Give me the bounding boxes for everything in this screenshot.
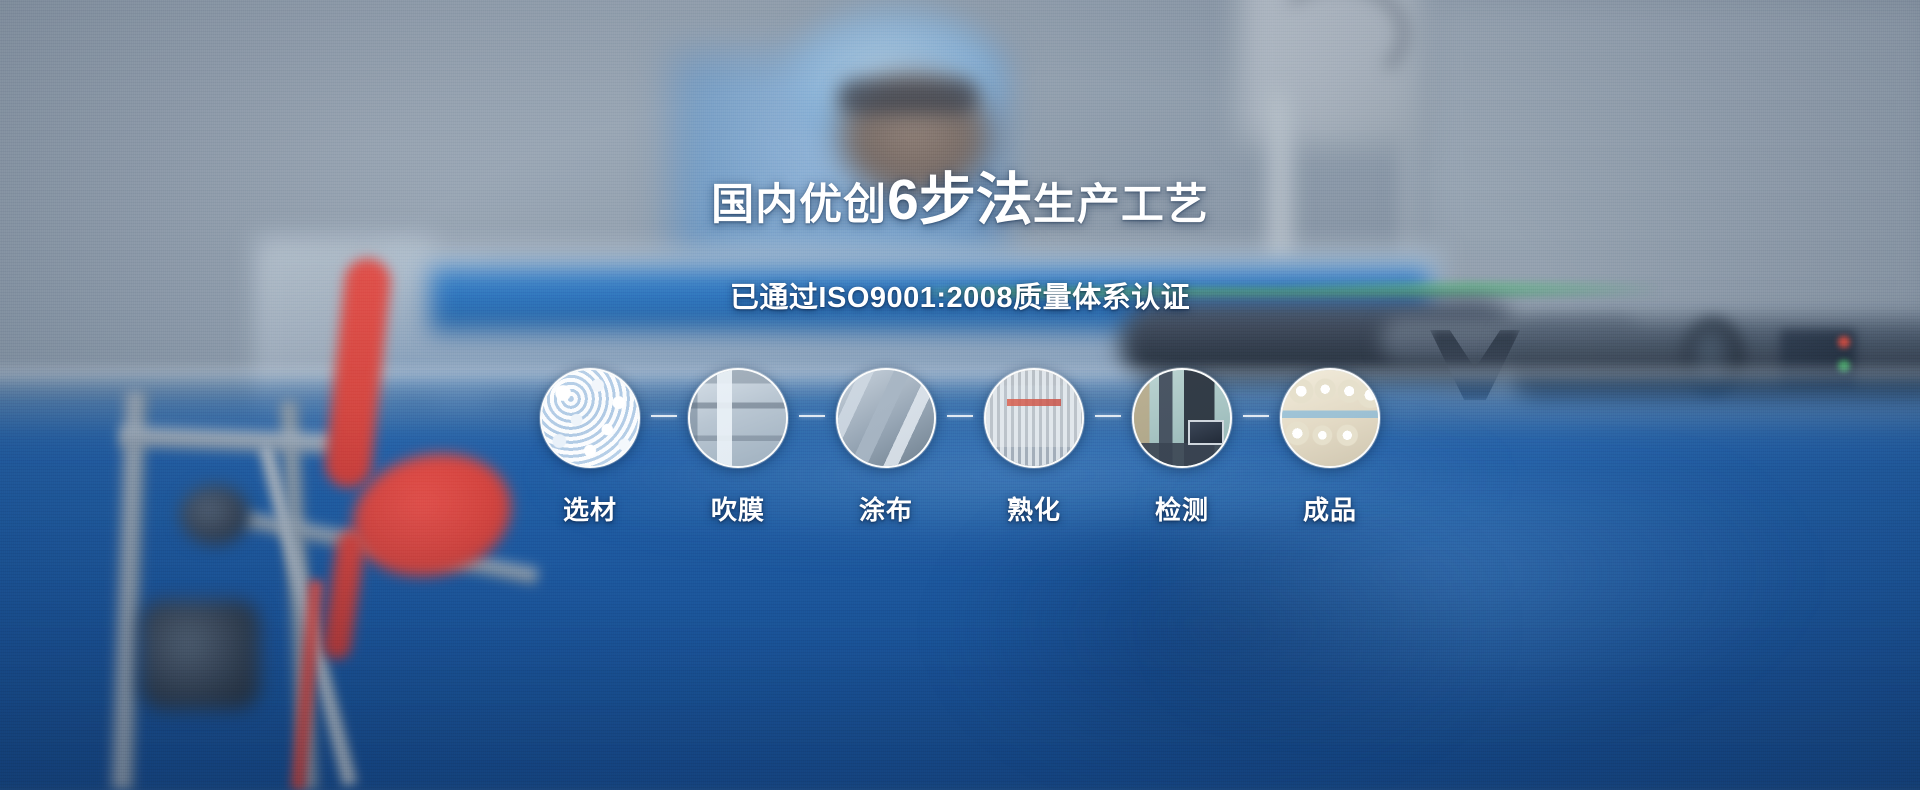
step-thumbnail-resin-pellets[interactable] (540, 368, 640, 468)
banner-headline: 国内优创6步法生产工艺 (0, 172, 1920, 229)
step-thumbnail-finished-rolls[interactable] (1280, 368, 1380, 468)
step-connector-5 (1232, 368, 1280, 464)
step-connector-2 (788, 368, 836, 464)
step-connector-1 (640, 368, 688, 464)
step-label-4: 熟化 (1007, 490, 1061, 527)
step-label-3: 涂布 (859, 490, 913, 527)
step-connector-3 (936, 368, 984, 464)
process-banner: 国内优创6步法生产工艺 已通过ISO9001:2008质量体系认证 选材 吹膜 … (0, 0, 1920, 790)
step-label-6: 成品 (1303, 490, 1357, 527)
process-step-3[interactable]: 涂布 (836, 368, 936, 527)
step-thumbnail-curing[interactable] (984, 368, 1084, 468)
step-thumbnail-coating[interactable] (836, 368, 936, 468)
process-step-list: 选材 吹膜 涂布 熟化 检测 (0, 368, 1920, 527)
process-step-1[interactable]: 选材 (540, 368, 640, 527)
headline-suffix: 生产工艺 (1033, 181, 1209, 229)
headline-emphasis: 6步法 (887, 168, 1033, 232)
step-label-2: 吹膜 (711, 490, 765, 527)
process-step-5[interactable]: 检测 (1132, 368, 1232, 527)
process-step-2[interactable]: 吹膜 (688, 368, 788, 527)
step-connector-4 (1084, 368, 1132, 464)
step-thumbnail-testing[interactable] (1132, 368, 1232, 468)
step-label-1: 选材 (563, 490, 617, 527)
banner-subheadline: 已通过ISO9001:2008质量体系认证 (0, 274, 1920, 316)
step-thumbnail-blown-film[interactable] (688, 368, 788, 468)
process-step-4[interactable]: 熟化 (984, 368, 1084, 527)
headline-prefix: 国内优创 (711, 181, 887, 229)
step-label-5: 检测 (1155, 490, 1209, 527)
process-step-6[interactable]: 成品 (1280, 368, 1380, 527)
